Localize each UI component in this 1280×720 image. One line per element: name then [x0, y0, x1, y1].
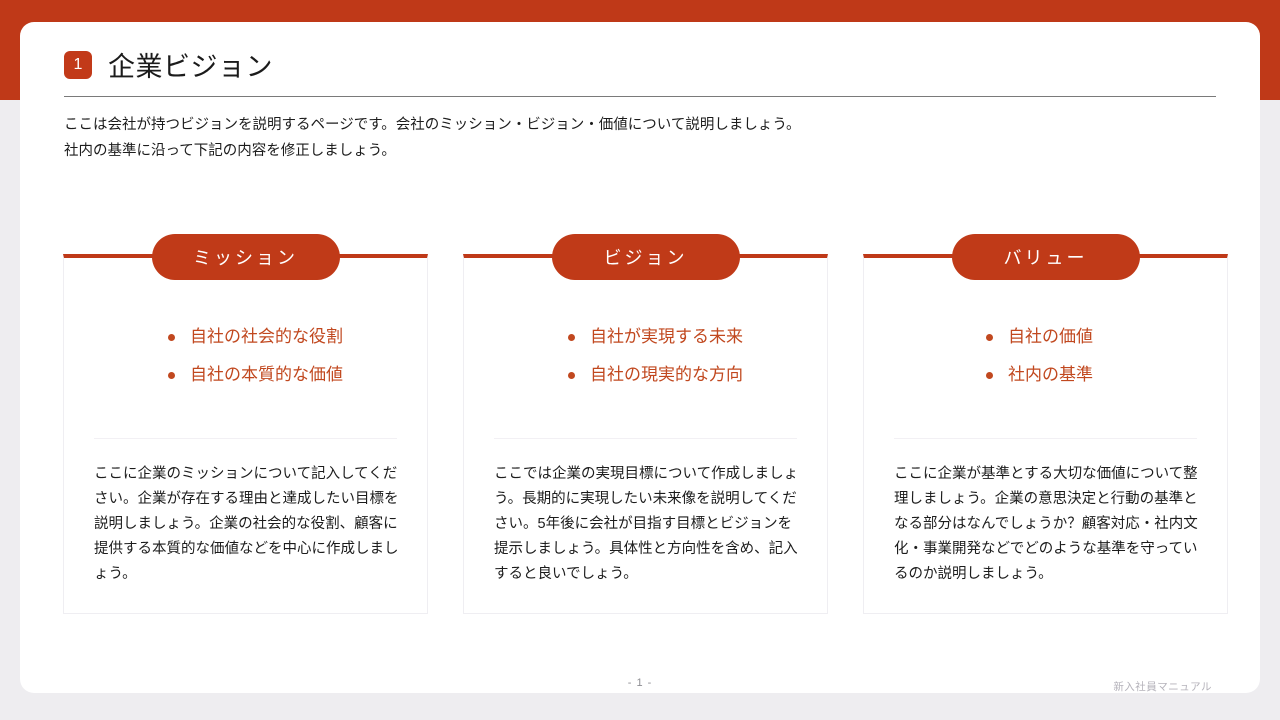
slide-description: ここは会社が持つビジョンを説明するページです。会社のミッション・ビジョン・価値に…	[64, 112, 1224, 164]
section-number-badge: 1	[64, 51, 92, 79]
footer-note: 新入社員マニュアル	[1113, 679, 1212, 694]
card-value-divider	[894, 438, 1197, 439]
title-divider	[64, 96, 1216, 97]
card-vision-body: ここでは企業の実現目標について作成しましょう。長期的に実現したい未来像を説明して…	[494, 462, 803, 587]
card-value-body: ここに企業が基準とする大切な価値について整理しましょう。企業の意思決定と行動の基…	[894, 462, 1203, 587]
card-mission[interactable]: ミッション 自社の社会的な役割 自社の本質的な価値 ここに企業のミッションについ…	[63, 254, 428, 614]
slide-canvas: 1 企業ビジョン ここは会社が持つビジョンを説明するページです。会社のミッション…	[0, 0, 1280, 720]
card-vision-divider	[494, 438, 797, 439]
slide-panel: 1 企業ビジョン ここは会社が持つビジョンを説明するページです。会社のミッション…	[20, 22, 1260, 693]
card-value[interactable]: バリュー 自社の価値 社内の基準 ここに企業が基準とする大切な価値について整理し…	[863, 254, 1228, 614]
card-group: ミッション 自社の社会的な役割 自社の本質的な価値 ここに企業のミッションについ…	[63, 254, 1228, 614]
list-item: 自社の価値	[986, 318, 1227, 356]
list-item: 自社の現実的な方向	[568, 356, 827, 394]
card-mission-divider	[94, 438, 397, 439]
list-item: 社内の基準	[986, 356, 1227, 394]
list-item: 自社の社会的な役割	[168, 318, 427, 356]
description-line-2: 社内の基準に沿って下記の内容を修正しましょう。	[64, 138, 1224, 164]
card-mission-pill: ミッション	[152, 234, 340, 280]
card-vision-pill: ビジョン	[552, 234, 740, 280]
description-line-1: ここは会社が持つビジョンを説明するページです。会社のミッション・ビジョン・価値に…	[64, 112, 1224, 138]
page-number: - 1 -	[20, 677, 1260, 689]
slide-header: 1 企業ビジョン	[64, 45, 273, 84]
page-title: 企業ビジョン	[108, 45, 273, 84]
list-item: 自社の本質的な価値	[168, 356, 427, 394]
card-value-pill: バリュー	[952, 234, 1140, 280]
card-vision[interactable]: ビジョン 自社が実現する未来 自社の現実的な方向 ここでは企業の実現目標について…	[463, 254, 828, 614]
card-mission-body: ここに企業のミッションについて記入してください。企業が存在する理由と達成したい目…	[94, 462, 403, 587]
list-item: 自社が実現する未来	[568, 318, 827, 356]
